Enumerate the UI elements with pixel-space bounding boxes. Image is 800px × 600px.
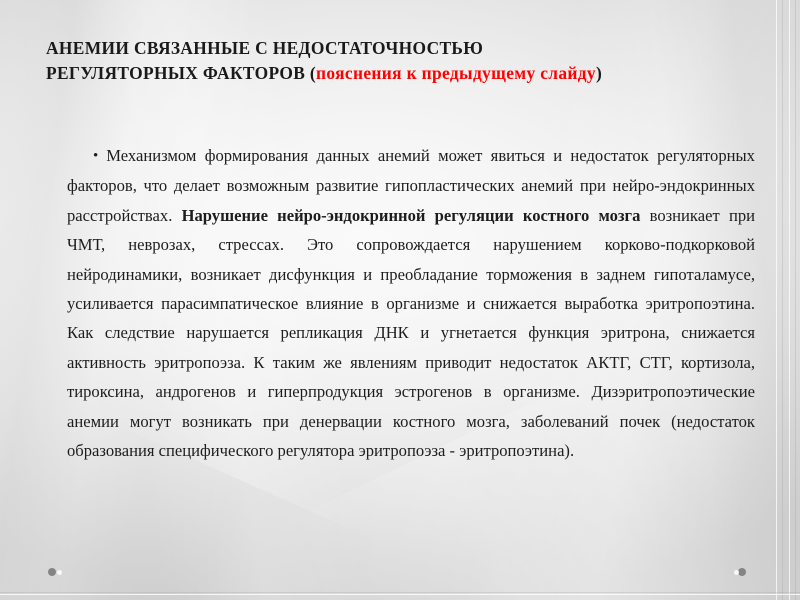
decoration-dot-left-highlight-icon bbox=[57, 570, 62, 575]
slide-title: АНЕМИИ СВЯЗАННЫЕ С НЕДОСТАТОЧНОСТЬЮ РЕГУ… bbox=[46, 36, 758, 86]
background-edge-line bbox=[789, 0, 790, 600]
slide-title-line-2-prefix: РЕГУЛЯТОРНЫХ ФАКТОРОВ ( bbox=[46, 63, 316, 83]
background-edge-line bbox=[795, 0, 796, 600]
slide-title-line-1: АНЕМИИ СВЯЗАННЫЕ С НЕДОСТАТОЧНОСТЬЮ bbox=[46, 36, 758, 61]
body-bullet-paragraph: • Механизмом формирования данных анемий … bbox=[67, 141, 755, 465]
bullet-glyph-icon: • bbox=[93, 148, 106, 164]
slide-title-line-2: РЕГУЛЯТОРНЫХ ФАКТОРОВ (пояснения к преды… bbox=[46, 61, 758, 86]
slide-body: • Механизмом формирования данных анемий … bbox=[67, 141, 755, 465]
background-edge-line bbox=[782, 0, 783, 600]
background-edge-line bbox=[0, 592, 800, 593]
background-edge-line bbox=[776, 0, 777, 600]
decoration-dot-right-highlight-icon bbox=[734, 570, 739, 575]
background-edge-line bbox=[0, 594, 800, 595]
body-text-run: возникает при ЧМТ, неврозах, стрессах. Э… bbox=[67, 206, 755, 460]
decoration-dot-right-icon bbox=[738, 568, 746, 576]
slide-canvas: АНЕМИИ СВЯЗАННЫЕ С НЕДОСТАТОЧНОСТЬЮ РЕГУ… bbox=[0, 0, 800, 600]
decoration-dot-left-icon bbox=[48, 568, 56, 576]
slide-title-accent-text: пояснения к предыдущему слайду bbox=[316, 63, 596, 83]
slide-title-line-2-suffix: ) bbox=[596, 63, 602, 83]
body-text-emphasis: Нарушение нейро-эндокринной регуляции ко… bbox=[182, 206, 641, 225]
